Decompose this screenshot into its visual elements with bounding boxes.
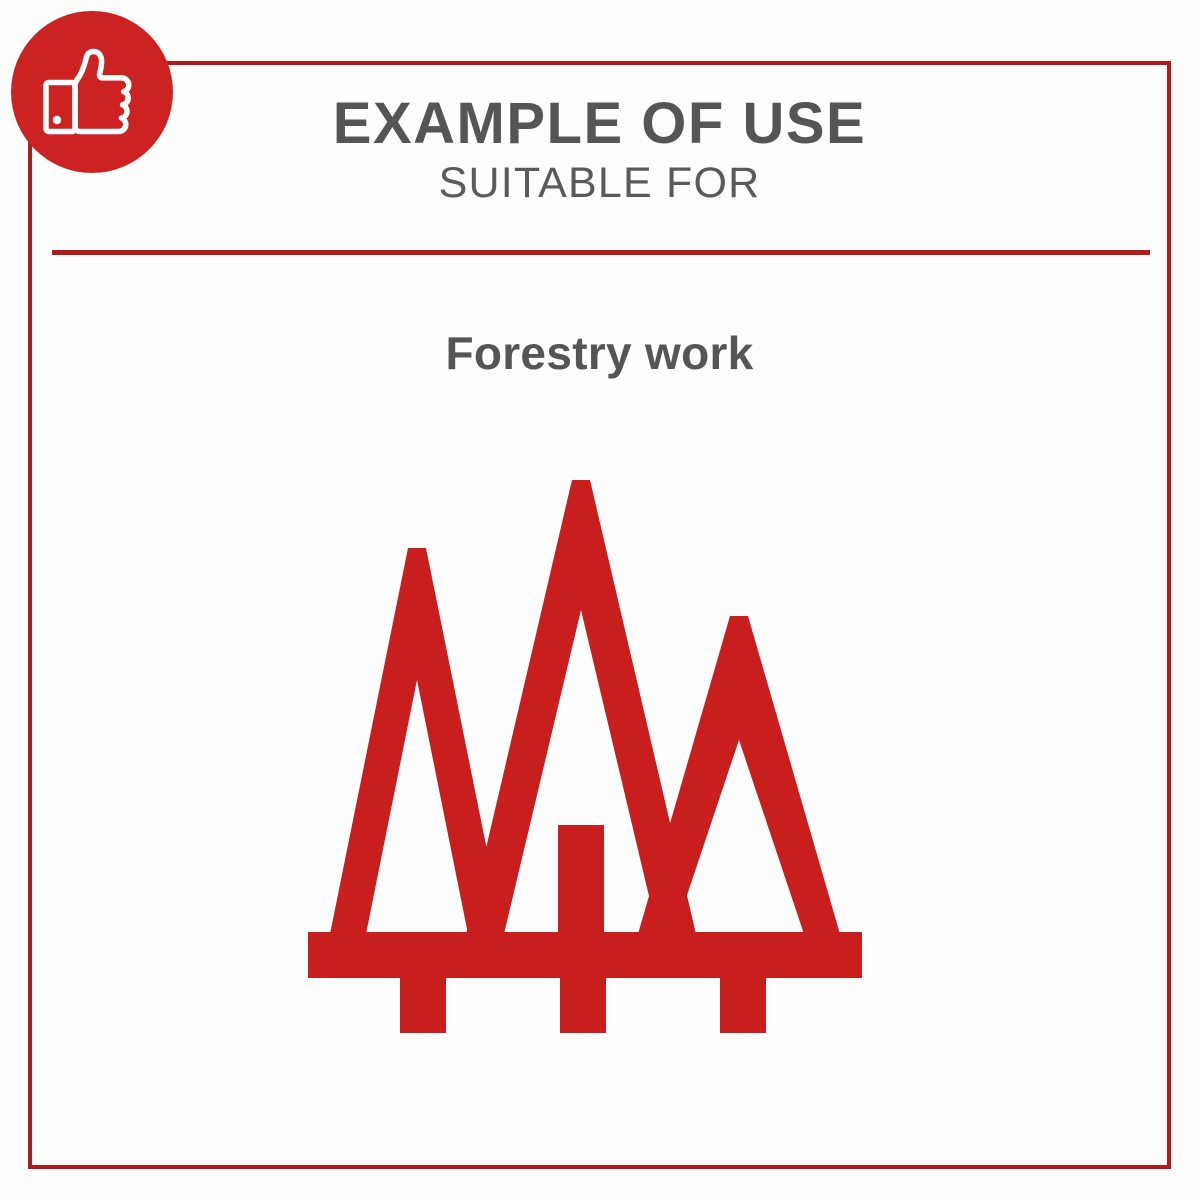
card-header: EXAMPLE OF USE SUITABLE FOR	[28, 61, 1171, 256]
forest-trees-icon	[300, 470, 870, 1040]
header-divider	[52, 250, 1150, 255]
forest-trees-pictogram	[300, 470, 870, 1040]
thumbs-up-badge	[11, 11, 173, 173]
page-subtitle: SUITABLE FOR	[439, 161, 761, 206]
thumbs-up-icon	[32, 32, 152, 152]
example-label: Forestry work	[32, 326, 1167, 380]
example-of-use-card: EXAMPLE OF USE SUITABLE FOR Forestry wor…	[0, 0, 1200, 1200]
page-title: EXAMPLE OF USE	[333, 94, 866, 155]
